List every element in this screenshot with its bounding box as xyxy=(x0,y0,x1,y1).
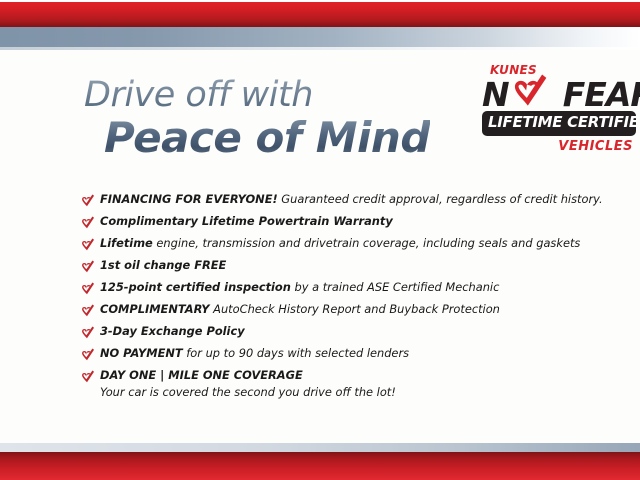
logo-vehicles-text: VEHICLES xyxy=(482,140,636,153)
feature-item: DAY ONE | MILE ONE COVERAGE xyxy=(78,368,598,385)
feature-item: Complimentary Lifetime Powertrain Warran… xyxy=(78,214,598,231)
feature-lead: FINANCING FOR EVERYONE! xyxy=(100,192,278,206)
feature-item: 3-Day Exchange Policy xyxy=(78,324,598,341)
heart-check-icon xyxy=(78,369,95,385)
heart-check-icon xyxy=(78,325,95,341)
heart-check-icon xyxy=(78,347,95,363)
feature-text: Lifetime engine, transmission and drivet… xyxy=(100,236,580,251)
heart-check-icon xyxy=(78,281,95,297)
feature-text: COMPLIMENTARY AutoCheck History Report a… xyxy=(100,302,500,317)
heart-check-icon xyxy=(78,237,95,253)
feature-list: FINANCING FOR EVERYONE! Guaranteed credi… xyxy=(78,192,598,405)
feature-lead: 1st oil change FREE xyxy=(100,258,226,272)
heart-check-icon xyxy=(78,193,95,209)
feature-lead: Lifetime xyxy=(100,236,153,250)
feature-item: FINANCING FOR EVERYONE! Guaranteed credi… xyxy=(78,192,598,209)
feature-detail: by a trained ASE Certified Mechanic xyxy=(291,280,499,294)
feature-item: 1st oil change FREE xyxy=(78,258,598,275)
top-red-bar xyxy=(0,2,640,27)
logo-certified-text: LIFETIME CERTIFIED xyxy=(488,113,640,131)
feature-detail: engine, transmission and drivetrain cove… xyxy=(153,236,581,250)
feature-item: COMPLIMENTARY AutoCheck History Report a… xyxy=(78,302,598,319)
logo-word-fear: FEAR xyxy=(563,75,640,114)
top-gray-bar xyxy=(0,27,640,50)
feature-detail: for up to 90 days with selected lenders xyxy=(183,346,409,360)
feature-lead: Complimentary Lifetime Powertrain Warran… xyxy=(100,214,393,228)
feature-subtext: Your car is covered the second you drive… xyxy=(100,385,598,400)
bottom-red-bar xyxy=(0,452,640,480)
feature-text: 1st oil change FREE xyxy=(100,258,226,273)
feature-lead: DAY ONE | MILE ONE COVERAGE xyxy=(100,368,303,382)
feature-detail: Guaranteed credit approval, regardless o… xyxy=(278,192,603,206)
heart-check-icon xyxy=(78,215,95,231)
feature-text: NO PAYMENT for up to 90 days with select… xyxy=(100,346,409,361)
feature-text: FINANCING FOR EVERYONE! Guaranteed credi… xyxy=(100,192,603,207)
bottom-gray-bar xyxy=(0,443,640,452)
logo-letter-n: N xyxy=(482,75,509,114)
feature-text: 125-point certified inspection by a trai… xyxy=(100,280,499,295)
headline-line-2: Peace of Mind xyxy=(104,117,430,159)
heart-check-icon xyxy=(78,259,95,275)
promo-banner: Drive off with Peace of Mind KUNES NOOFE… xyxy=(0,0,640,480)
headline: Drive off with Peace of Mind xyxy=(84,78,430,159)
logo-wordmark-text: NOOFEAR xyxy=(482,77,636,113)
feature-text: 3-Day Exchange Policy xyxy=(100,324,245,339)
feature-lead: 3-Day Exchange Policy xyxy=(100,324,245,338)
feature-lead: 125-point certified inspection xyxy=(100,280,291,294)
kunes-no-fear-logo: KUNES NOOFEAR LIFETIME CERTIFIED VEHICLE… xyxy=(482,64,636,153)
logo-wordmark: NOOFEAR xyxy=(482,77,636,113)
feature-item: Lifetime engine, transmission and drivet… xyxy=(78,236,598,253)
heart-check-icon xyxy=(78,303,95,319)
feature-detail: AutoCheck History Report and Buyback Pro… xyxy=(210,302,500,316)
headline-line-1: Drive off with xyxy=(84,78,430,113)
feature-text: DAY ONE | MILE ONE COVERAGE xyxy=(100,368,303,383)
logo-certified-bar: LIFETIME CERTIFIED xyxy=(482,111,636,136)
feature-lead: COMPLIMENTARY xyxy=(100,302,210,316)
feature-lead: NO PAYMENT xyxy=(100,346,183,360)
feature-item: NO PAYMENT for up to 90 days with select… xyxy=(78,346,598,363)
feature-item: 125-point certified inspection by a trai… xyxy=(78,280,598,297)
feature-text: Complimentary Lifetime Powertrain Warran… xyxy=(100,214,393,229)
